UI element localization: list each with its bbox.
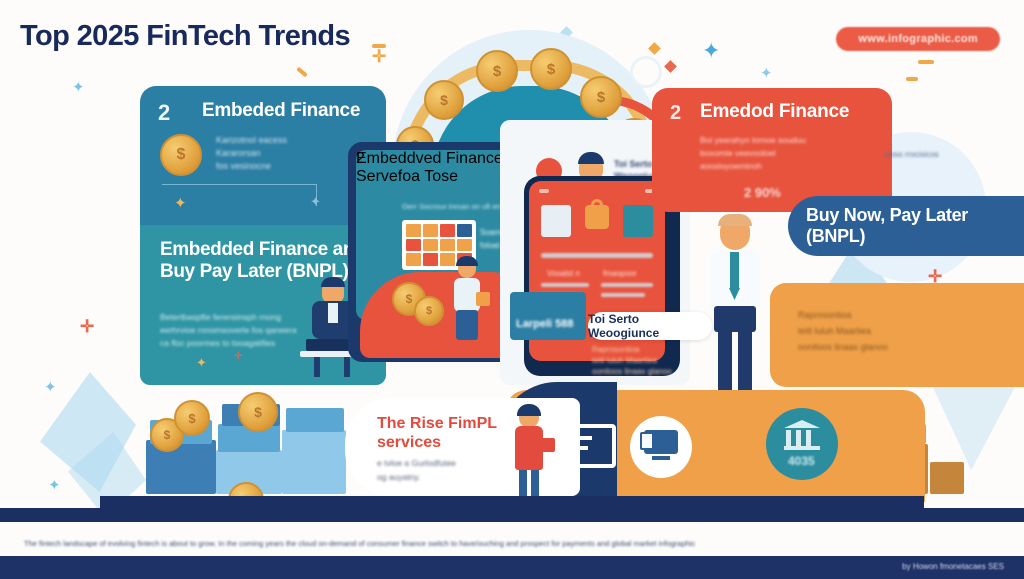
bank-building-icon-circle[interactable]: 4035 bbox=[766, 408, 838, 480]
gold-coin-icon: $ bbox=[174, 400, 210, 436]
bnpl-note-text: Raprosontioa teitl luluh Maartiea oonito… bbox=[592, 344, 702, 377]
gold-coin-icon: $ bbox=[160, 134, 202, 176]
magnifier-icon bbox=[630, 56, 662, 88]
body-line: aoosloyoeminoh bbox=[700, 160, 856, 173]
divider bbox=[162, 184, 316, 185]
gold-coin-icon: $ bbox=[476, 50, 518, 92]
status-dot-icon bbox=[539, 189, 549, 193]
phone-text-line bbox=[601, 283, 653, 287]
sparkle-icon: ✦ bbox=[48, 478, 61, 493]
plus-decor-icon: ✛ bbox=[928, 268, 942, 285]
coin-stack bbox=[282, 430, 346, 494]
footer-bar: by Howon fmonetacaes SES bbox=[0, 556, 1024, 579]
sparkle-icon: ✦ bbox=[310, 194, 321, 210]
coin-stack bbox=[286, 408, 344, 432]
panel-orange-right[interactable]: Raprosontioa teitl luluh Maartiea oonito… bbox=[770, 283, 1024, 387]
gold-coin-icon: $ bbox=[424, 80, 464, 120]
body-line: teitl luluh Maartiea bbox=[592, 355, 702, 366]
panel-body-text: e tvloe a Gurlodfutee og auyatny. bbox=[377, 456, 507, 484]
sparkle-icon: ✦ bbox=[702, 40, 720, 62]
bank-building-icon bbox=[786, 430, 791, 446]
body-line: boxomte veevooloel bbox=[700, 147, 856, 160]
coin-stack bbox=[930, 462, 964, 494]
bank-building-icon bbox=[784, 446, 820, 450]
body-line: Karizotnol eacess bbox=[216, 134, 356, 147]
gold-coin-icon: $ bbox=[580, 76, 622, 118]
panel-stat: 2 90% bbox=[744, 185, 781, 200]
computer-shopping-icon bbox=[640, 432, 654, 450]
url-badge[interactable]: www.infographic.com bbox=[836, 27, 1000, 51]
shopper-person-illustration bbox=[446, 258, 490, 354]
sparkle-icon: ✦ bbox=[44, 380, 57, 395]
panel-body-text: Raprosontioa teitl luluh Maartiea oonito… bbox=[798, 307, 958, 355]
footer-caption: The fintech landscape of evolving fintec… bbox=[24, 539, 804, 549]
panel-heading: Embeded Finance bbox=[202, 100, 360, 122]
body-line: og auyatny. bbox=[377, 470, 507, 484]
diamond-decor-icon bbox=[648, 42, 661, 55]
infographic-canvas: ✦ ✦ ✦ ✦ ✦ ✛ ✛ ✛ $ $ $ $ $ $ 2 Embeded Fi… bbox=[0, 0, 1024, 579]
footer-credit: by Howon fmonetacaes SES bbox=[902, 562, 1004, 571]
body-line: e tvloe a Gurlodfutee bbox=[377, 456, 507, 470]
woman-illustration bbox=[503, 404, 559, 496]
document-icon[interactable] bbox=[541, 205, 571, 237]
computer-shopping-icon-circle[interactable] bbox=[630, 416, 692, 478]
bnpl-pill[interactable]: Buy Now, Pay Later (BNPL) bbox=[788, 196, 1024, 256]
dash-decor-icon bbox=[918, 60, 934, 64]
bnpl-subnote: oioss rrocisicos bbox=[884, 150, 974, 159]
page-title: Top 2025 FinTech Trends bbox=[20, 20, 350, 53]
body-line: oonitoos linaax glanoo bbox=[798, 339, 958, 355]
body-line: Boi yeerahyn lornoe souduu bbox=[700, 134, 856, 147]
lock-icon bbox=[591, 199, 603, 211]
panel-body-text: Karizotnol eacess Kararorsan fos vesinoc… bbox=[216, 134, 356, 173]
body-line: teitl luluh Maartiea bbox=[798, 323, 958, 339]
pill-label: Toi Serto Weoogiunce bbox=[588, 312, 712, 340]
body-line: fos vesinocne bbox=[216, 160, 356, 173]
gold-coin-icon: $ bbox=[530, 48, 572, 90]
sparkle-icon: ✦ bbox=[174, 194, 187, 212]
card-label: Larpeli 588 bbox=[516, 318, 573, 330]
dash-decor-icon bbox=[906, 77, 918, 81]
panel-rise-services[interactable]: The Rise FimPL services e tvloe a Gurlod… bbox=[345, 398, 580, 496]
phone-text-line bbox=[541, 253, 653, 258]
body-line: oonitoos linaax glanoo bbox=[592, 366, 702, 377]
phone-text-line bbox=[601, 293, 645, 297]
plus-decor-icon: ✛ bbox=[372, 48, 386, 65]
phone-row-label: Vooalst n bbox=[547, 269, 580, 278]
phone-row-label: fmaopoor bbox=[603, 269, 637, 278]
body-line: Raprosontioa bbox=[798, 307, 958, 323]
body-line: Raprosontioa bbox=[592, 344, 702, 355]
body-line: Kararorsan bbox=[216, 147, 356, 160]
bnpl-heading: Buy Now, Pay Later (BNPL) bbox=[806, 205, 1006, 247]
panel-body-text: Boi yeerahyn lornoe souduu boxomte veevo… bbox=[700, 134, 856, 173]
phone-text-line bbox=[541, 283, 589, 287]
businessman-illustration bbox=[700, 216, 770, 396]
phone-action-pill[interactable]: Toi Serto Weoogiunce bbox=[588, 312, 712, 340]
panel-heading: Emedod Finance bbox=[700, 101, 849, 123]
gold-coin-icon: $ bbox=[238, 392, 278, 432]
sparkle-icon: ✦ bbox=[196, 355, 207, 371]
panel-heading: The Rise FimPL services bbox=[377, 414, 517, 452]
bank-building-icon bbox=[796, 430, 801, 446]
sparkle-icon: ✦ bbox=[760, 66, 773, 81]
computer-shopping-icon bbox=[652, 456, 670, 460]
people-icon[interactable] bbox=[623, 205, 653, 237]
diamond-decor-icon bbox=[664, 60, 677, 73]
plus-decor-icon: ✛ bbox=[234, 351, 242, 362]
panel-number: 2 bbox=[670, 102, 681, 125]
bank-building-icon bbox=[806, 430, 811, 446]
plus-decor-icon: ✛ bbox=[80, 318, 94, 335]
dash-decor-icon bbox=[296, 67, 308, 78]
bank-label: 4035 bbox=[788, 454, 815, 468]
navy-divider-bar bbox=[0, 508, 1024, 522]
panel-number: 2 bbox=[158, 100, 170, 126]
bank-building-icon bbox=[784, 420, 820, 428]
dash-decor-icon bbox=[372, 44, 386, 48]
gold-coin-icon: $ bbox=[414, 296, 444, 326]
payment-card-illustration bbox=[510, 292, 586, 340]
sparkle-icon: ✦ bbox=[72, 80, 85, 95]
